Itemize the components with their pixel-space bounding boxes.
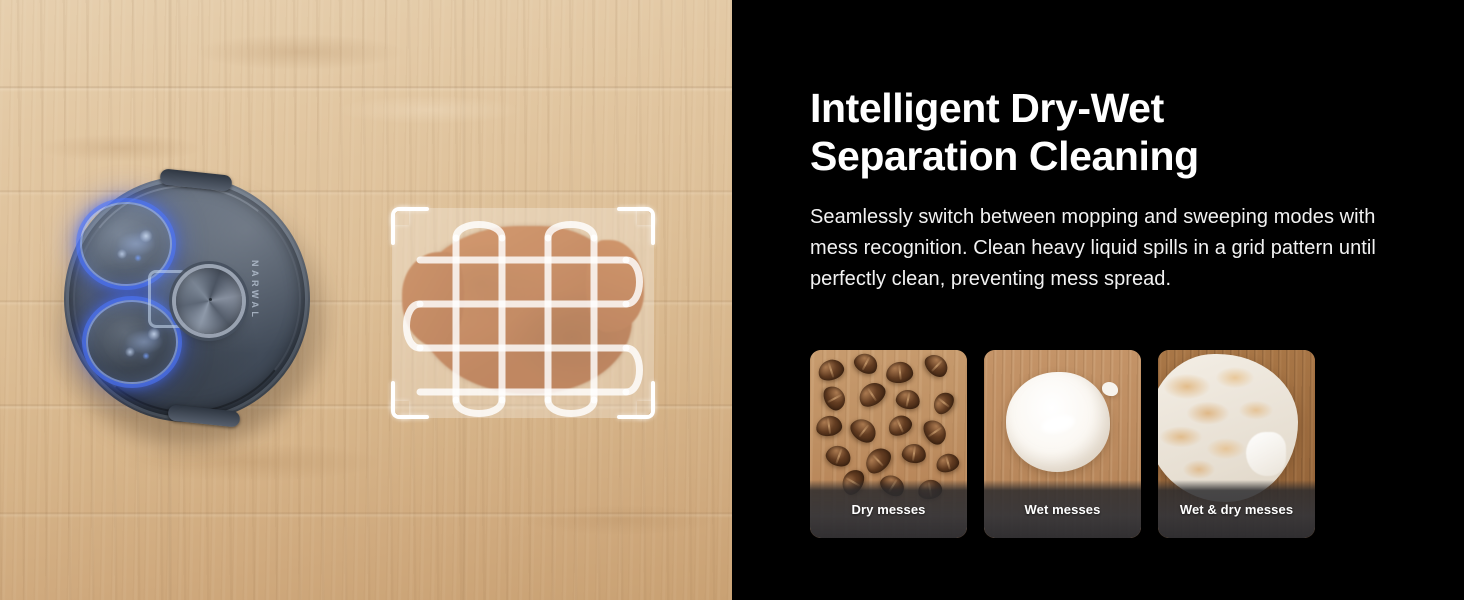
- robot-brand-label: NARWAL: [250, 260, 260, 320]
- frame-corner-bracket-icon: [625, 207, 655, 237]
- headline-line-1: Intelligent Dry-Wet: [810, 84, 1430, 132]
- gear-mechanism-icon: [108, 224, 164, 272]
- mess-type-card[interactable]: Wet messes: [984, 350, 1141, 538]
- page-title: Intelligent Dry-Wet Separation Cleaning: [810, 84, 1430, 180]
- card-label: Wet & dry messes: [1158, 480, 1315, 538]
- card-label: Dry messes: [810, 480, 967, 538]
- spill-highlight: [1246, 432, 1286, 476]
- milk-puddle-graphic: [1006, 372, 1110, 472]
- milk-drip-graphic: [1102, 382, 1118, 396]
- center-dome-icon: [176, 268, 242, 334]
- mess-type-card-list: Dry messes Wet messes Wet & dry messes: [810, 350, 1315, 538]
- promo-banner: NARWAL: [0, 0, 1464, 600]
- serpentine-grid-path-icon: [392, 208, 654, 418]
- frame-corner-bracket-icon: [625, 389, 655, 419]
- copy-block: Intelligent Dry-Wet Separation Cleaning …: [810, 84, 1430, 295]
- gear-mechanism-icon: [116, 322, 172, 370]
- mess-detection-overlay: [392, 208, 654, 418]
- mess-type-card[interactable]: Wet & dry messes: [1158, 350, 1315, 538]
- mess-type-card[interactable]: Dry messes: [810, 350, 967, 538]
- product-scene-panel: NARWAL: [0, 0, 732, 600]
- card-label: Wet messes: [984, 480, 1141, 538]
- robot-vacuum: NARWAL: [64, 176, 310, 422]
- body-text: Seamlessly switch between mopping and sw…: [810, 180, 1422, 295]
- frame-corner-bracket-icon: [391, 389, 421, 419]
- frame-corner-bracket-icon: [391, 207, 421, 237]
- headline-line-2: Separation Cleaning: [810, 132, 1430, 180]
- copy-panel: Intelligent Dry-Wet Separation Cleaning …: [732, 0, 1464, 600]
